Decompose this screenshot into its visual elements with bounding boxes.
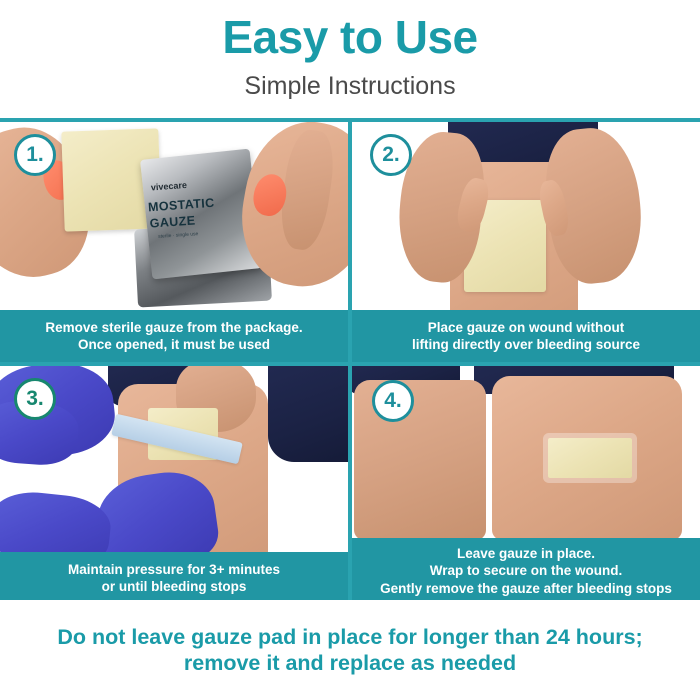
footer-warning: Do not leave gauze pad in place for long… — [0, 600, 700, 700]
infographic-page: Easy to Use Simple Instructions vivecare… — [0, 0, 700, 700]
step-panel-3: 3. Maintain pressure for 3+ minutes or u… — [0, 366, 348, 604]
step-panel-2: 2. Place gauze on wound without lifting … — [352, 122, 700, 362]
steps-grid: vivecare MOSTATIC GAUZE sterile · single… — [0, 118, 700, 600]
navy-shorts-right — [268, 366, 348, 462]
page-subtitle: Simple Instructions — [244, 74, 455, 99]
header: Easy to Use Simple Instructions — [0, 0, 700, 118]
page-title: Easy to Use — [222, 14, 477, 60]
step-caption-1: Remove sterile gauze from the package. O… — [0, 310, 348, 362]
package-line-1: MOSTATIC — [148, 196, 215, 215]
secured-gauze-pad — [548, 438, 632, 478]
package-small-text: sterile · single use — [158, 231, 199, 240]
package-line-2: GAUZE — [149, 213, 196, 230]
step-caption-3: Maintain pressure for 3+ minutes or unti… — [0, 552, 348, 604]
step-caption-2: Place gauze on wound without lifting dir… — [352, 310, 700, 362]
step-panel-1: vivecare MOSTATIC GAUZE sterile · single… — [0, 122, 348, 362]
step-panel-4: 4. Leave gauze in place. Wrap to secure … — [352, 366, 700, 604]
step-badge-2: 2. — [370, 134, 412, 176]
step-badge-1: 1. — [14, 134, 56, 176]
step-badge-3: 3. — [14, 378, 56, 420]
warning-text: Do not leave gauze pad in place for long… — [39, 624, 660, 676]
step-caption-4: Leave gauze in place. Wrap to secure on … — [352, 538, 700, 604]
package-brand: vivecare — [151, 180, 188, 192]
step-badge-4: 4. — [372, 380, 414, 422]
